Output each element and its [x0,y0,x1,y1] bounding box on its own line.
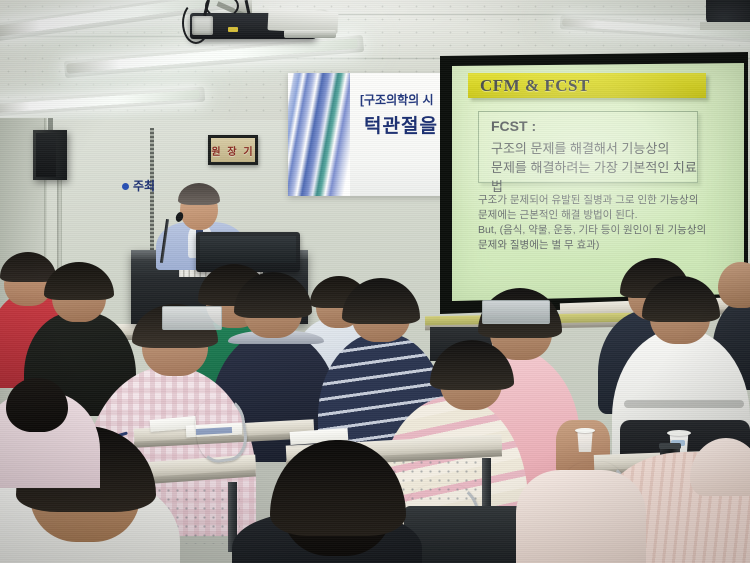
slide-box-line-3: 문제를 해결하려는 가장 기본적인 치료법 [491,157,697,195]
slide-body-text: 구조가 문제되어 유발된 질병과 그로 인한 기능상의 문제에는 근본적인 해결… [478,193,728,253]
banner-host-label: 주최 [133,177,155,194]
slide-body-line: 구조가 문제되어 유발된 질병과 그로 인한 기능상의 [478,193,728,208]
projection-screen: CFM & FCST FCST : 구조의 문제를 해결해서 기능상의 문제를 … [452,63,744,301]
wall-sign-frame: 원 장 기 [208,135,258,165]
ceiling-mount-plate [700,22,750,30]
paper-cup [576,430,594,452]
event-banner: [구조의학의 시 턱관절을 [288,73,456,196]
slide-body-line: 문제와 질병에는 별 무 효과) [478,238,728,253]
plastic-container [482,300,550,324]
attendee-right-mid-shoulder [516,470,646,563]
attendee-pink-bottom-head [6,378,68,432]
slide-body-line: 문제에는 근본적인 해결 방법이 된다. [478,208,728,223]
paper-cup-rim [667,430,691,436]
paper-cup-rim [575,428,595,433]
banner-bullet-icon [122,183,129,190]
banner-artwork [288,73,350,196]
plastic-container [162,306,222,330]
slide-definition-box: FCST : 구조의 문제를 해결해서 기능상의 문제를 해결하려는 가장 기본… [478,111,698,183]
projector-body-side [284,30,336,38]
wall-sign-text: 원 장 기 [211,138,255,162]
attendee-white-tee-strap [624,400,744,408]
slide-box-line-2: 구조의 문제를 해결해서 기능상의 [491,138,669,157]
slide-body-line: But, (음식, 약물, 운동, 기타 등이 원인이 된 기능상의 [478,223,728,238]
projector-indicator [228,27,238,32]
slide-title-bar: CFM & FCST [468,73,706,98]
slide-title: CFM & FCST [480,76,590,96]
banner-line-1: [구조의학의 시 [360,91,434,108]
seminar-room-photo: 원 장 기 [구조의학의 시 턱관절을 주최 CFM & FCST FCST :… [0,0,750,563]
banner-line-2: 턱관절을 [364,111,438,138]
thermos-cap [659,443,681,449]
chair-back [404,506,532,563]
monitor-screen [200,236,296,263]
speaker-face [36,133,56,177]
slide-box-line-1: FCST : [491,118,536,134]
